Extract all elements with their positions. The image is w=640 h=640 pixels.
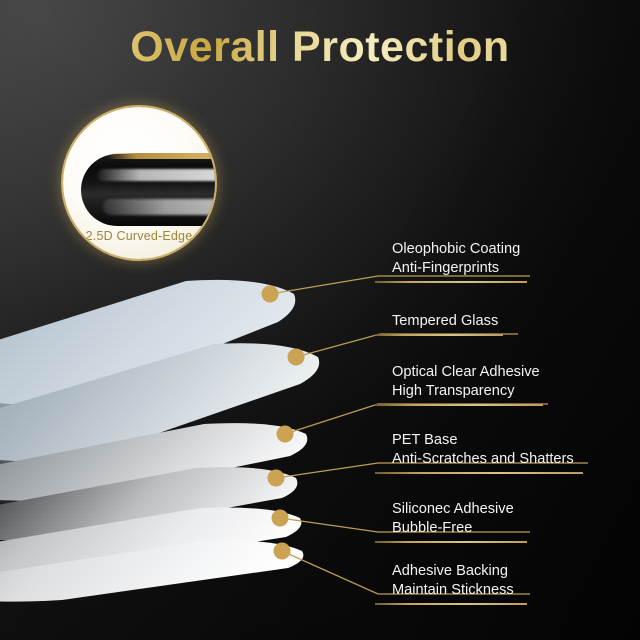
callout-rule: [375, 404, 543, 406]
page-title: Overall Protection: [0, 24, 640, 71]
background-vignette: [0, 0, 640, 640]
glass-edge-inner-sheen: [103, 199, 215, 215]
callout-line: Optical Clear Adhesive: [392, 363, 543, 382]
callout-optical-clear-adhesive: Optical Clear Adhesive High Transparency: [392, 363, 543, 406]
callout-siliconec-adhesive: Siliconec Adhesive Bubble-Free: [392, 500, 527, 543]
glass-edge-gold-strip: [107, 153, 215, 159]
callout-line: Adhesive Backing: [392, 562, 527, 581]
callout-rule: [375, 472, 583, 474]
callout-pet-base: PET Base Anti-Scratches and Shatters: [392, 431, 583, 474]
callout-rule: [375, 281, 527, 283]
callout-adhesive-backing: Adhesive Backing Maintain Stickness: [392, 562, 527, 605]
callout-line: Anti-Fingerprints: [392, 259, 527, 278]
callout-tempered-glass: Tempered Glass: [392, 312, 503, 336]
curved-edge-inset: 2.5D Curved-Edge: [63, 107, 215, 259]
callout-line: Tempered Glass: [392, 312, 503, 331]
callout-rule: [375, 603, 527, 605]
callout-line: Anti-Scratches and Shatters: [392, 450, 583, 469]
curved-edge-caption: 2.5D Curved-Edge: [63, 229, 215, 243]
callout-oleophobic-coating: Oleophobic Coating Anti-Fingerprints: [392, 240, 527, 283]
callout-line: Maintain Stickness: [392, 581, 527, 600]
product-infographic: Overall Protection 2.5D Curved-Edge: [0, 0, 640, 640]
callout-line: Oleophobic Coating: [392, 240, 527, 259]
callout-line: Bubble-Free: [392, 519, 527, 538]
glass-edge-highlight: [97, 169, 215, 181]
callout-rule: [375, 334, 503, 336]
callout-rule: [375, 541, 527, 543]
callout-line: PET Base: [392, 431, 583, 450]
callout-line: High Transparency: [392, 382, 543, 401]
callout-line: Siliconec Adhesive: [392, 500, 527, 519]
glass-edge-illustration: [81, 154, 215, 226]
